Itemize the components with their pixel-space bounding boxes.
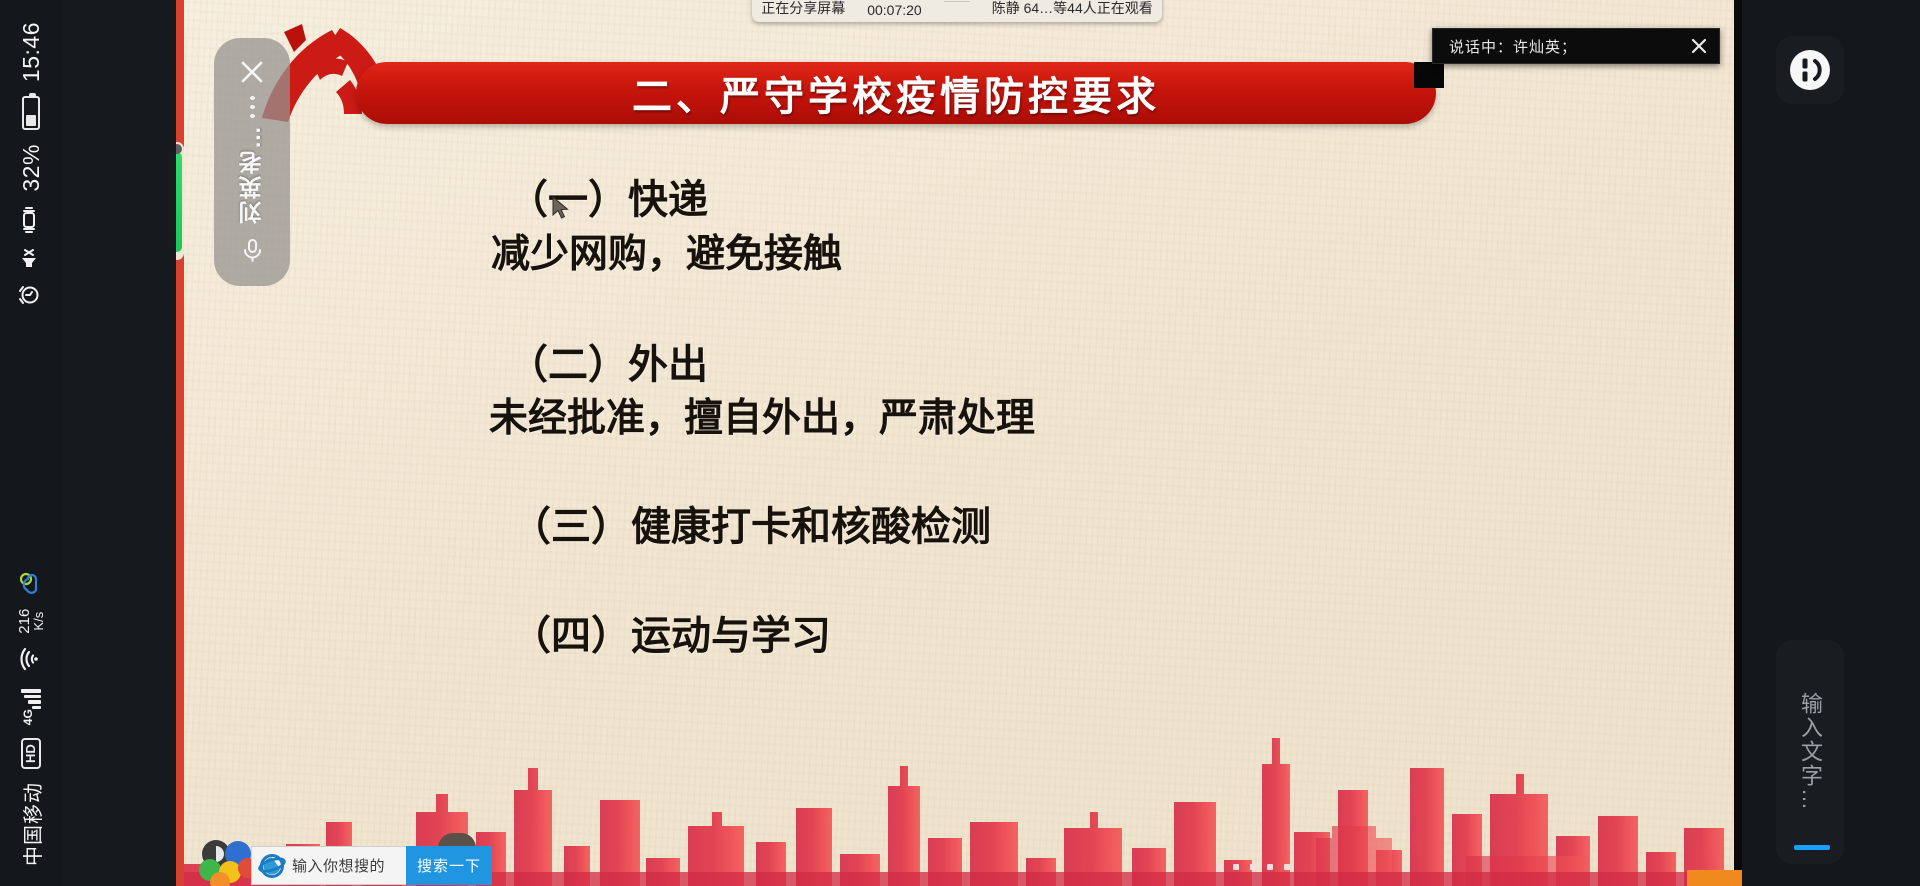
mute-icon — [19, 248, 44, 270]
battery-percent: 32% — [18, 144, 45, 192]
clock-label: 15:46 — [18, 22, 45, 82]
close-icon[interactable] — [1679, 28, 1719, 64]
volume-slider[interactable] — [176, 142, 184, 260]
signal-icon: 4G — [21, 684, 41, 726]
stage-right-edge — [1734, 0, 1742, 886]
speaking-toast[interactable]: 说话中：许灿英； — [1432, 28, 1720, 64]
vibrate-icon — [19, 206, 44, 234]
carrier-label: 中国移动 — [17, 782, 46, 866]
floating-participant-panel[interactable]: 刘英老… — [214, 38, 290, 286]
share-viewers-label: 陈静 64…等44人正在观看 — [992, 0, 1153, 18]
taskbar-notification-tab[interactable] — [1687, 870, 1742, 886]
slide-line: （三）健康打卡和核酸检测 — [511, 494, 991, 552]
watermark: 刘英老师 — [176, 548, 184, 740]
taskbar-tray-dots — [1216, 864, 1290, 870]
search-input[interactable]: 输入你想搜的 — [286, 855, 406, 876]
share-status-bar[interactable]: 正在分享屏幕 00:07:20 陈静 64…等44人正在观看 — [752, 0, 1162, 22]
microphone-icon[interactable] — [239, 237, 265, 268]
watermark-text: 刘英老师 — [176, 548, 184, 740]
wifi-icon — [20, 647, 43, 671]
mouse-cursor-icon — [552, 196, 570, 225]
battery-icon — [22, 96, 40, 130]
slide-line: （一）快递 — [508, 167, 708, 225]
mobile-network-label: 4G — [21, 709, 35, 725]
slide-line: 未经批准，擅自外出，严肃处理 — [489, 387, 1035, 443]
volume-slider-handle[interactable] — [176, 144, 182, 154]
emoji-face-icon[interactable] — [1776, 36, 1844, 104]
divider — [944, 1, 970, 2]
alarm-icon — [18, 284, 45, 306]
search-button[interactable]: 搜索一下 — [406, 846, 492, 885]
message-input-placeholder: 输入文字… — [1794, 692, 1826, 812]
share-elapsed-time: 00:07:20 — [867, 2, 922, 18]
network-speed: 216 K/s — [17, 609, 45, 634]
hd-badge-icon: HD — [21, 738, 41, 769]
participant-name: 刘英老… — [235, 124, 269, 224]
speaking-toast-text: 说话中：许灿英； — [1433, 36, 1679, 57]
internet-explorer-icon — [258, 852, 286, 880]
screen-root: 中国移动 HD 4G 216 K/s — [0, 0, 1920, 886]
search-widget[interactable]: 输入你想搜的 搜索一下 — [251, 846, 492, 885]
slide-line: 减少网购，避免接触 — [491, 223, 842, 279]
weather-icon — [19, 570, 44, 596]
slide-line: （二）外出 — [508, 332, 708, 390]
stage-left-edge — [176, 0, 184, 886]
more-dots-icon[interactable] — [250, 96, 255, 118]
shared-screen-stage[interactable]: 二、严守学校疫情防控要求 （一）快递 减少网购，避免接触 （二）外出 未经批准，… — [176, 0, 1742, 886]
right-dock: 输入文字… — [1742, 0, 1920, 886]
text-caret — [1794, 845, 1830, 850]
message-input[interactable]: 输入文字… — [1776, 640, 1844, 864]
volume-slider-fill — [176, 152, 182, 252]
system-status-bar: 中国移动 HD 4G 216 K/s — [0, 0, 62, 886]
close-icon[interactable] — [232, 52, 272, 92]
share-status-label: 正在分享屏幕 — [761, 0, 845, 18]
